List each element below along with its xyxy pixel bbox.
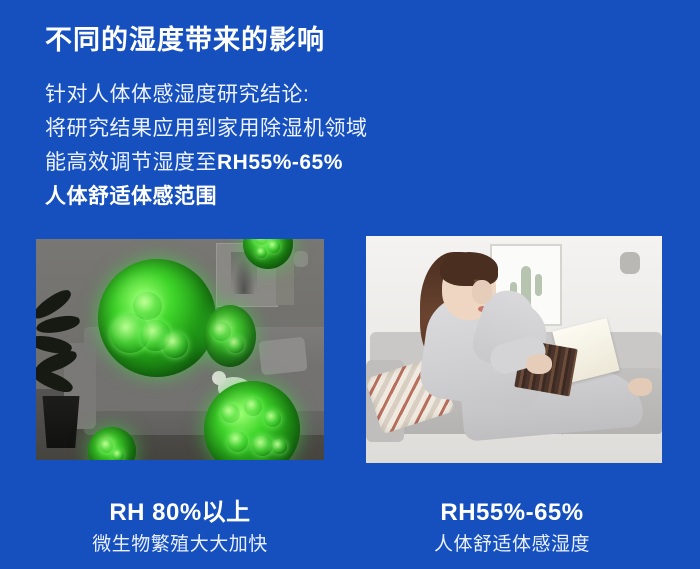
woman-hair-front xyxy=(440,252,498,286)
copy-line-3-regular: 能高效调节湿度至 xyxy=(45,151,217,174)
humidity-infographic-poster: 不同的湿度带来的影响 针对人体体感湿度研究结论: 将研究结果应用到家用除湿机领域… xyxy=(0,0,700,569)
copy-line-3-highlight: RH55%-65% xyxy=(217,151,343,174)
mold-spore-medium xyxy=(204,305,256,367)
caption-left-title: RH 80%以上 xyxy=(30,498,330,528)
dark-plant-pot xyxy=(40,396,82,448)
copy-line-3: 能高效调节湿度至RH55%-65% xyxy=(45,146,465,180)
wall-thermostat-icon xyxy=(294,251,308,267)
wall-speaker-icon xyxy=(620,252,640,274)
caption-right: RH55%-65% 人体舒适体感湿度 xyxy=(362,498,662,558)
photo-high-humidity-mold xyxy=(36,239,324,460)
mold-spore-large xyxy=(98,259,216,377)
woman-foot xyxy=(628,378,652,396)
page-title: 不同的湿度带来的影响 xyxy=(45,18,325,57)
dark-sofa-cushion xyxy=(258,337,307,376)
caption-right-title: RH55%-65% xyxy=(362,498,662,528)
caption-left: RH 80%以上 微生物繁殖大大加快 xyxy=(30,498,330,558)
photo-comfort-humidity-woman xyxy=(366,236,662,463)
intro-copy-block: 针对人体体感湿度研究结论: 将研究结果应用到家用除湿机领域 能高效调节湿度至RH… xyxy=(45,78,465,214)
copy-line-1: 针对人体体感湿度研究结论: xyxy=(45,78,465,112)
copy-line-4: 人体舒适体感范围 xyxy=(45,180,465,214)
woman-hand-at-face xyxy=(472,280,492,304)
copy-line-2: 将研究结果应用到家用除湿机领域 xyxy=(45,112,465,146)
woman-hand-on-book xyxy=(526,354,552,374)
caption-left-subtitle: 微生物繁殖大大加快 xyxy=(30,532,330,558)
caption-right-subtitle: 人体舒适体感湿度 xyxy=(362,532,662,558)
bright-room-scene xyxy=(366,236,662,463)
dark-room-scene xyxy=(36,239,324,460)
